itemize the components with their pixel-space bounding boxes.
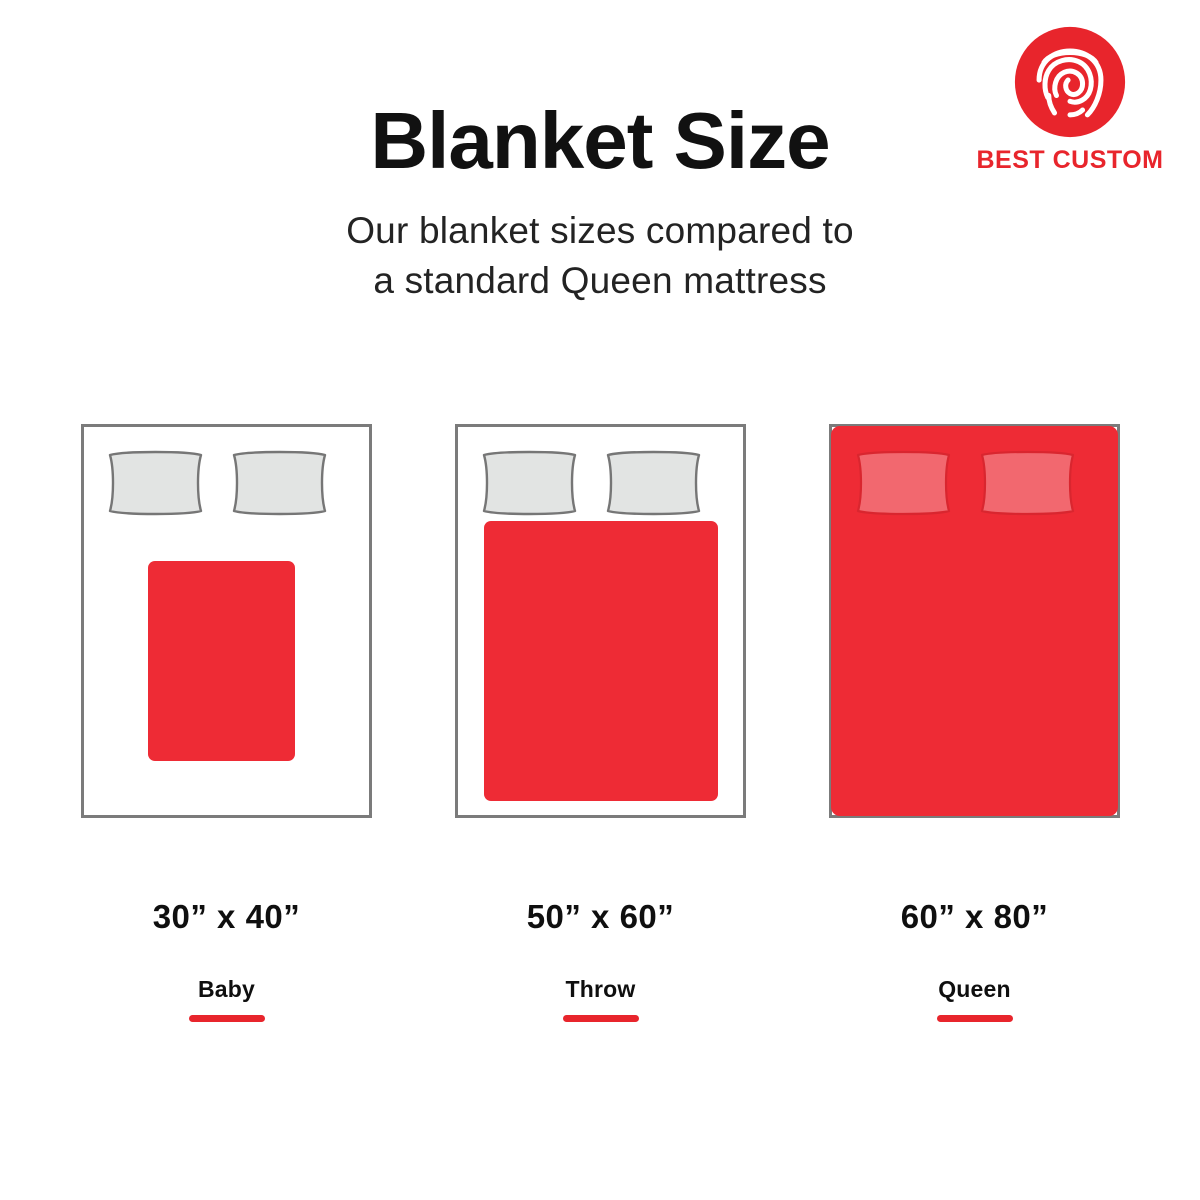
pillow-icon [603,449,704,517]
blanket-throw [484,521,718,801]
pillow-icon [105,449,206,517]
size-name-label: Throw [455,978,746,1001]
mattress-outline [829,424,1120,818]
size-name-label: Baby [81,978,372,1001]
bed-diagram-queen [829,424,1120,818]
bed-diagrams [0,424,1200,824]
caption-queen: 60” x 80” Queen [829,900,1120,1022]
pillow-icon [479,449,580,517]
accent-underline [563,1015,639,1022]
page-subtitle: Our blanket sizes compared to a standard… [0,206,1200,306]
bed-diagram-baby [81,424,372,818]
caption-throw: 50” x 60” Throw [455,900,746,1022]
dimensions-label: 30” x 40” [81,900,372,933]
accent-underline [189,1015,265,1022]
subtitle-line-2: a standard Queen mattress [0,256,1200,306]
accent-underline [937,1015,1013,1022]
header: Blanket Size Our blanket sizes compared … [0,100,1200,305]
mattress-outline [81,424,372,818]
pillow-icon [977,449,1078,517]
blanket-baby [148,561,295,761]
subtitle-line-1: Our blanket sizes compared to [0,206,1200,256]
dimensions-label: 60” x 80” [829,900,1120,933]
size-name-label: Queen [829,978,1120,1001]
page-title: Blanket Size [0,100,1200,182]
mattress-outline [455,424,746,818]
bed-captions: 30” x 40” Baby 50” x 60” Throw 60” x 80”… [0,900,1200,1060]
bed-diagram-throw [455,424,746,818]
pillow-icon [229,449,330,517]
caption-baby: 30” x 40” Baby [81,900,372,1022]
dimensions-label: 50” x 60” [455,900,746,933]
pillow-icon [853,449,954,517]
